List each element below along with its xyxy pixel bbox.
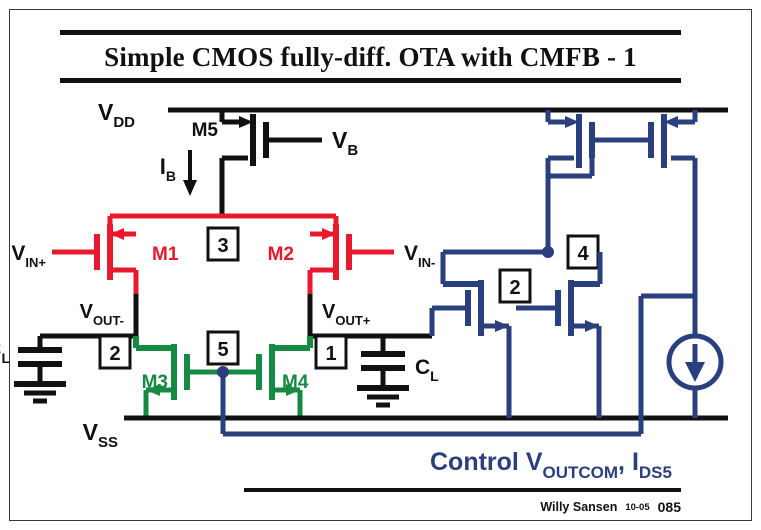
footer-rule (244, 488, 681, 492)
title-rule-bottom (60, 78, 681, 83)
m1-label: M1 (152, 244, 179, 265)
node-box-2-right: 2 (500, 270, 530, 302)
footer-page-number: 085 (658, 499, 681, 515)
cl-left-label: CL (0, 338, 10, 366)
vb-label: VB (332, 127, 358, 159)
circuit-schematic: VDD M5 VB (0, 88, 743, 488)
vin-plus-label: VIN+ (11, 242, 46, 270)
slide-canvas: Simple CMOS fully-diff. OTA with CMFB - … (0, 0, 761, 530)
cmfb-feedback-wire (223, 296, 695, 434)
vdd-label: VDD (98, 99, 135, 131)
diffpair-red-wiring (110, 216, 336, 228)
m4-label: M4 (282, 372, 309, 393)
cap-cl-left (14, 336, 66, 401)
footer-date: 10-05 (625, 502, 649, 513)
title-rule-top (60, 30, 681, 35)
transistor-m5 (222, 110, 322, 216)
node-box-2-left: 2 (100, 336, 130, 368)
m2-label: M2 (268, 244, 294, 265)
node-box-3: 3 (208, 228, 238, 260)
cmfb-caption: Control VOUTCOM, IDS5 (430, 448, 672, 482)
cl-right-label: CL (415, 356, 439, 384)
node-box-1: 1 (316, 336, 346, 368)
vout-minus-label: VOUT- (80, 301, 124, 328)
vin-minus-label: VIN- (404, 242, 435, 270)
ib-label: IB (160, 154, 176, 184)
transistor-mn1 (432, 274, 509, 418)
node-3-label: 3 (217, 235, 228, 257)
footer-author: Willy Sansen (540, 500, 617, 514)
cmfb-left-branch-wire (443, 252, 548, 278)
node-2-left-label: 2 (109, 343, 120, 365)
vss-label: VSS (83, 419, 118, 451)
node-1-label: 1 (325, 343, 336, 365)
transistor-m2 (310, 224, 394, 294)
node-4-label: 4 (577, 243, 589, 265)
ib-current-arrow (183, 150, 197, 196)
page-title: Simple CMOS fully-diff. OTA with CMFB - … (60, 36, 681, 78)
cap-cl-right (357, 336, 409, 405)
node-2-right-label: 2 (509, 277, 520, 299)
node-5-label: 5 (217, 339, 228, 361)
cmfb-gate-junction-dot (217, 366, 229, 378)
transistor-m1 (52, 224, 136, 294)
transistor-mp2 (628, 110, 695, 324)
transistor-mp1 (548, 110, 628, 248)
vout-plus-label: VOUT+ (322, 301, 371, 328)
m5-label: M5 (192, 120, 219, 141)
slide-footer: Willy Sansen 10-05 085 (400, 496, 681, 518)
current-source (669, 320, 721, 418)
node-box-5: 5 (208, 332, 238, 364)
node-box-4: 4 (568, 236, 598, 268)
m3-label: M3 (142, 372, 168, 393)
